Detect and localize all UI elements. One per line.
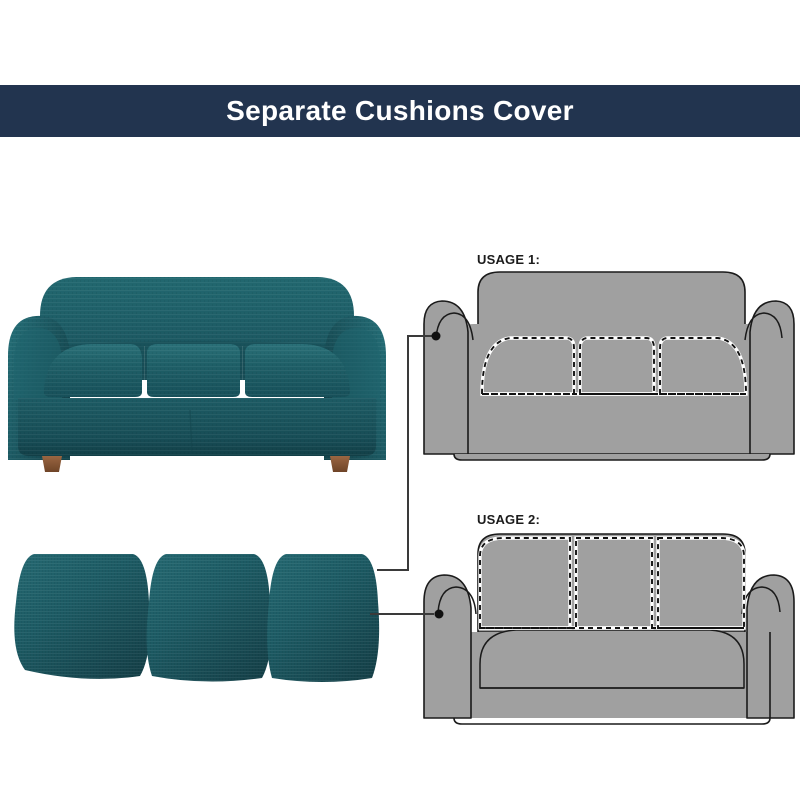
usage-2-diagram (418, 528, 800, 740)
sofa-seat-cushions (44, 344, 350, 397)
cushion-1 (14, 554, 150, 679)
detached-cushions-photo (0, 530, 400, 690)
usage-2-sofa-diagram (418, 528, 800, 740)
title-banner: Separate Cushions Cover (0, 85, 800, 137)
page-title: Separate Cushions Cover (226, 97, 574, 125)
cushion-2 (147, 554, 272, 682)
usage-1-sofa-diagram (418, 268, 800, 480)
sofa-illustration (0, 250, 400, 490)
sofa-base (18, 398, 376, 456)
usage-1-label: USAGE 1: (477, 252, 540, 267)
cushions-illustration (0, 530, 400, 690)
usage-2-label: USAGE 2: (477, 512, 540, 527)
sofa-legs (42, 456, 350, 472)
diagram-sofa-body (424, 272, 794, 460)
cushion-3 (267, 554, 379, 682)
product-photo-sofa (0, 250, 400, 490)
usage-1-diagram (418, 268, 800, 480)
